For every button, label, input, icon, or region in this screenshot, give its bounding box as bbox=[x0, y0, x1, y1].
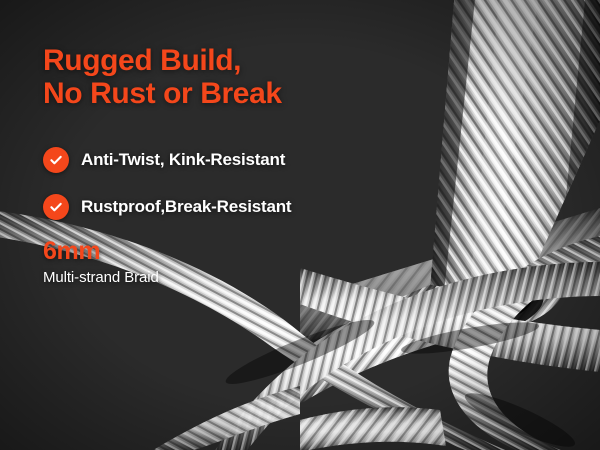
text-column: Rugged Build,No Rust or Break Anti-Twist… bbox=[0, 0, 340, 450]
headline-line-2: No Rust or Break bbox=[43, 77, 282, 110]
headline-line-1: Rugged Build, bbox=[43, 44, 241, 77]
feature-label: Rustproof,Break-Resistant bbox=[81, 197, 291, 217]
page-title: Rugged Build,No Rust or Break bbox=[43, 44, 282, 110]
feature-list: Anti-Twist, Kink-Resistant Rustproof,Bre… bbox=[43, 146, 333, 240]
check-circle-icon bbox=[43, 147, 69, 173]
spec-value: 6mm bbox=[43, 238, 159, 265]
check-circle-icon bbox=[43, 194, 69, 220]
product-feature-poster: Rugged Build,No Rust or Break Anti-Twist… bbox=[0, 0, 600, 450]
feature-item: Anti-Twist, Kink-Resistant bbox=[43, 146, 333, 174]
spec-block: 6mm Multi-strand Braid bbox=[43, 238, 159, 288]
feature-label: Anti-Twist, Kink-Resistant bbox=[81, 150, 285, 170]
feature-item: Rustproof,Break-Resistant bbox=[43, 193, 333, 221]
spec-label: Multi-strand Braid bbox=[43, 268, 159, 288]
